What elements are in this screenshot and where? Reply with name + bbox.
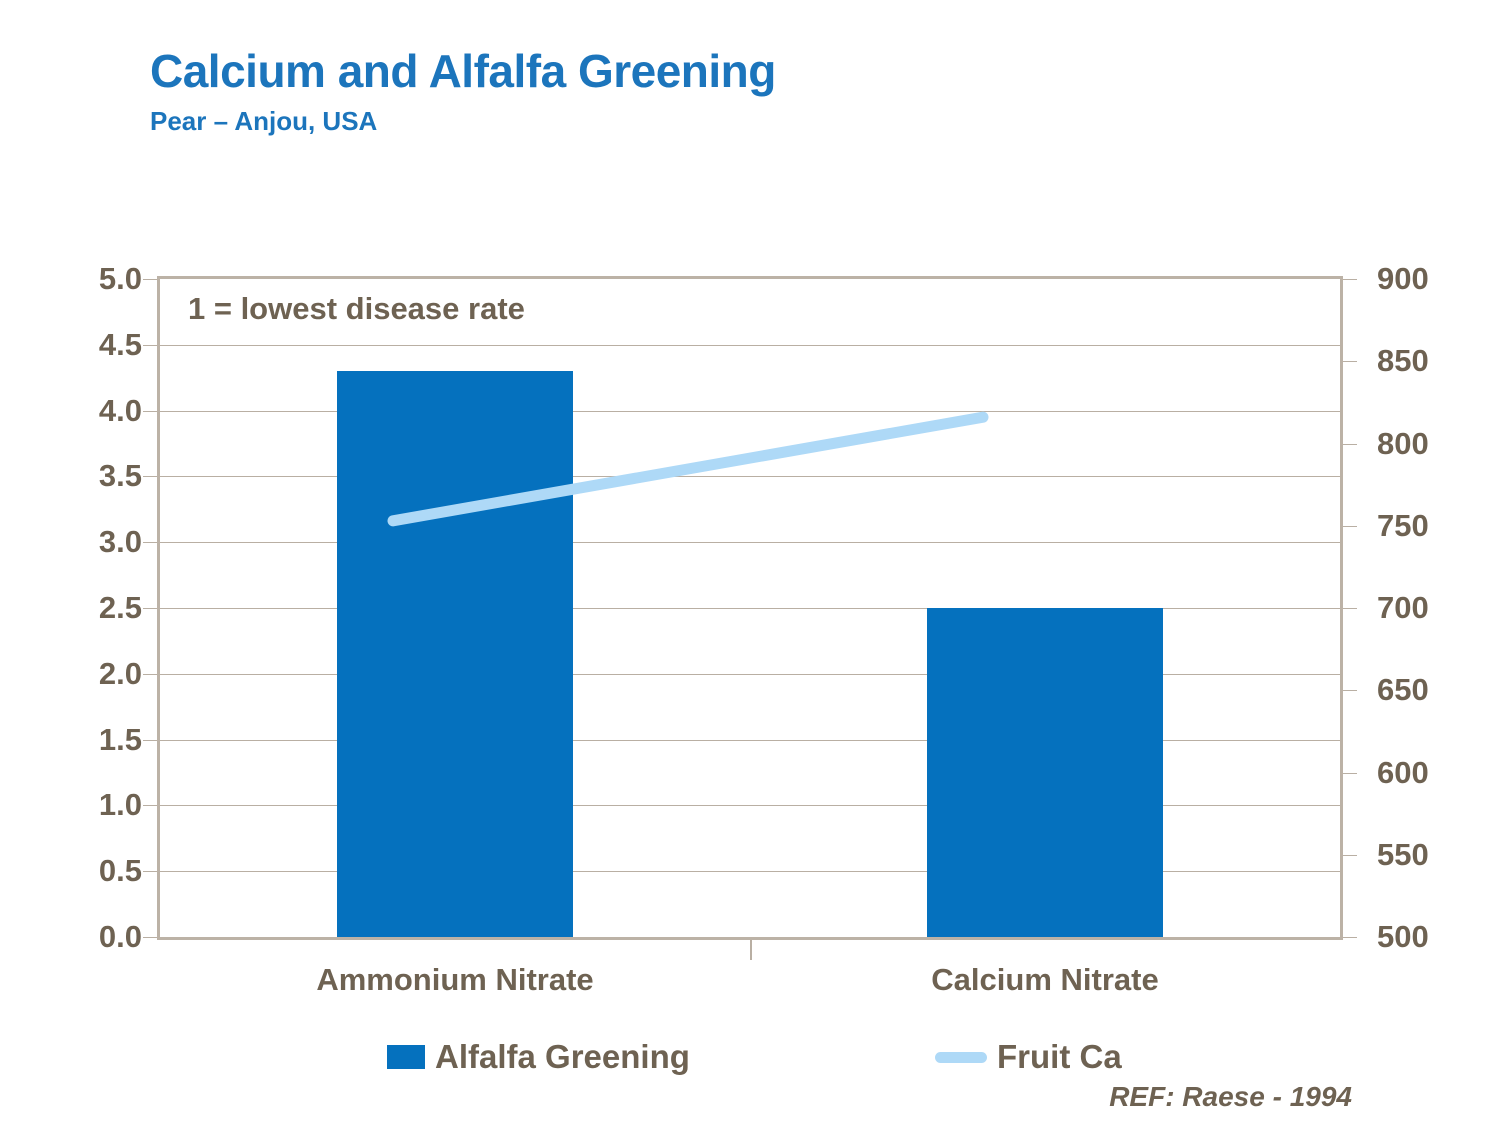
plot-area: 1 = lowest disease rate bbox=[157, 276, 1343, 940]
gridline bbox=[160, 345, 1340, 346]
left-axis-tick-label: 2.5 bbox=[99, 592, 142, 623]
title-block: Calcium and Alfalfa Greening Pear – Anjo… bbox=[150, 48, 1150, 137]
right-axis-tick bbox=[1343, 690, 1357, 691]
left-axis-tick bbox=[143, 871, 157, 872]
legend: Alfalfa Greening Fruit Ca bbox=[0, 1034, 1500, 1080]
plot-annotation: 1 = lowest disease rate bbox=[188, 291, 525, 327]
right-axis-tick-label: 550 bbox=[1377, 839, 1429, 870]
legend-label-alfalfa-greening: Alfalfa Greening bbox=[435, 1038, 690, 1076]
right-axis-tick bbox=[1343, 279, 1357, 280]
left-axis-tick bbox=[143, 937, 157, 938]
chart-title: Calcium and Alfalfa Greening bbox=[150, 48, 1150, 94]
line-swatch-icon bbox=[935, 1052, 987, 1063]
left-axis-tick-label: 1.5 bbox=[99, 724, 142, 755]
left-axis-tick-label: 4.0 bbox=[99, 395, 142, 426]
bar-swatch-icon bbox=[387, 1045, 425, 1069]
right-axis-tick-label: 650 bbox=[1377, 674, 1429, 705]
left-axis-tick-label: 5.0 bbox=[99, 263, 142, 294]
right-axis-tick-label: 500 bbox=[1377, 921, 1429, 952]
right-axis-tick-label: 600 bbox=[1377, 757, 1429, 788]
right-axis-tick-label: 900 bbox=[1377, 263, 1429, 294]
right-axis-tick bbox=[1343, 855, 1357, 856]
right-axis-tick bbox=[1343, 773, 1357, 774]
legend-item-fruit-ca[interactable]: Fruit Ca bbox=[935, 1034, 1122, 1080]
left-axis-tick-label: 2.0 bbox=[99, 658, 142, 689]
chart-subtitle: Pear – Anjou, USA bbox=[150, 106, 1150, 137]
left-axis-tick bbox=[143, 345, 157, 346]
left-axis-tick bbox=[143, 805, 157, 806]
left-axis-tick-label: 0.5 bbox=[99, 855, 142, 886]
plot-inner: 1 = lowest disease rate bbox=[160, 279, 1340, 937]
left-axis-tick bbox=[143, 411, 157, 412]
bar-calcium-nitrate bbox=[927, 608, 1163, 937]
right-axis-tick bbox=[1343, 361, 1357, 362]
left-axis-tick-label: 3.0 bbox=[99, 526, 142, 557]
x-axis-label-calcium-nitrate: Calcium Nitrate bbox=[745, 962, 1345, 998]
right-axis-tick bbox=[1343, 937, 1357, 938]
left-axis-tick bbox=[143, 740, 157, 741]
right-axis-tick bbox=[1343, 526, 1357, 527]
legend-item-alfalfa-greening[interactable]: Alfalfa Greening bbox=[387, 1034, 690, 1080]
right-axis-tick-label: 700 bbox=[1377, 592, 1429, 623]
right-axis-tick bbox=[1343, 608, 1357, 609]
left-axis-tick bbox=[143, 674, 157, 675]
legend-label-fruit-ca: Fruit Ca bbox=[997, 1038, 1122, 1076]
right-axis-tick-label: 850 bbox=[1377, 345, 1429, 376]
right-axis-tick-label: 750 bbox=[1377, 510, 1429, 541]
left-axis-tick bbox=[143, 476, 157, 477]
left-axis-tick bbox=[143, 542, 157, 543]
bar-ammonium-nitrate bbox=[337, 371, 573, 937]
right-axis-tick-label: 800 bbox=[1377, 428, 1429, 459]
left-axis-tick bbox=[143, 608, 157, 609]
left-axis-tick-label: 3.5 bbox=[99, 460, 142, 491]
x-axis-label-ammonium-nitrate: Ammonium Nitrate bbox=[155, 962, 755, 998]
left-axis-tick bbox=[143, 279, 157, 280]
left-axis-tick-label: 4.5 bbox=[99, 329, 142, 360]
right-axis-tick bbox=[1343, 444, 1357, 445]
reference-note: REF: Raese - 1994 bbox=[1109, 1081, 1352, 1113]
category-separator-tick bbox=[750, 940, 752, 960]
left-axis-tick-label: 1.0 bbox=[99, 789, 142, 820]
left-axis-tick-label: 0.0 bbox=[99, 921, 142, 952]
